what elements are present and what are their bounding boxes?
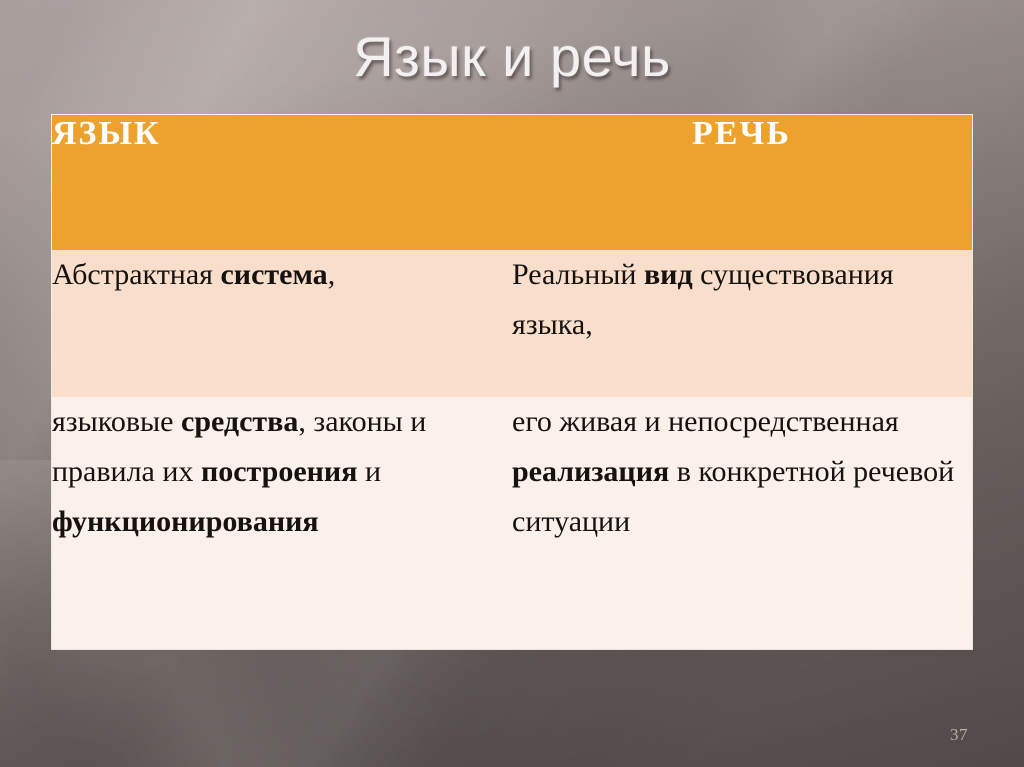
column-header-rech: РЕЧЬ xyxy=(512,115,972,250)
page-number: 37 xyxy=(950,725,968,745)
table-row: Абстрактная система, Реальный вид сущест… xyxy=(52,250,972,397)
cell-rech-definition: Реальный вид существования языка, xyxy=(512,250,972,397)
comparison-table: ЯЗЫК РЕЧЬ Абстрактная система, Реальный … xyxy=(52,115,972,649)
cell-yazyk-definition: Абстрактная система, xyxy=(52,250,512,397)
slide-canvas: Язык и речь ЯЗЫК РЕЧЬ Абстрактная систем… xyxy=(0,0,1024,767)
slide-title: Язык и речь xyxy=(0,22,1024,92)
table-row: языковые средства, законы и правила их п… xyxy=(52,397,972,649)
cell-yazyk-details: языковые средства, законы и правила их п… xyxy=(52,397,512,649)
column-header-yazyk: ЯЗЫК xyxy=(52,115,512,250)
table-header-row: ЯЗЫК РЕЧЬ xyxy=(52,115,972,250)
cell-rech-details: его живая и непосредственная реализация … xyxy=(512,397,972,649)
